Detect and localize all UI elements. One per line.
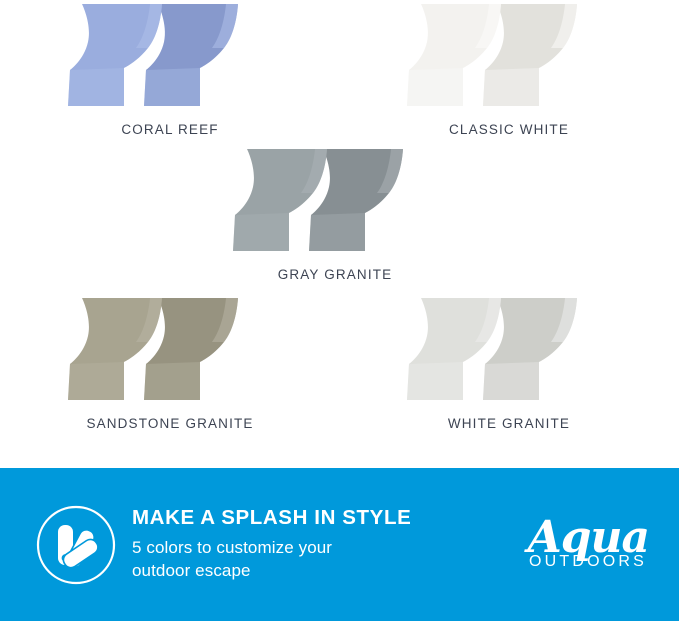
color-label: SANDSTONE GRANITE <box>24 416 316 431</box>
color-option-classic-white[interactable]: CLASSIC WHITE <box>363 2 655 137</box>
color-gallery: CORAL REEF CLASSIC WHITE <box>0 0 679 468</box>
chaise-lounger-pair-icon <box>363 296 655 408</box>
chaise-lounger-svg <box>24 2 316 114</box>
color-label: CLASSIC WHITE <box>363 122 655 137</box>
color-label: WHITE GRANITE <box>363 416 655 431</box>
promo-headline: MAKE A SPLASH IN STYLE <box>132 506 432 530</box>
color-swatch-fan-icon <box>34 503 118 587</box>
color-label: GRAY GRANITE <box>189 267 481 282</box>
color-option-gray-granite[interactable]: GRAY GRANITE <box>189 147 481 282</box>
chaise-lounger-pair-icon <box>24 2 316 114</box>
promo-subline-1: 5 colors to customize your <box>132 537 432 560</box>
promo-icon-wrap <box>28 503 124 587</box>
brand-logo-inner: Aqua OUTDOORS <box>528 518 649 570</box>
color-label: CORAL REEF <box>24 122 316 137</box>
chaise-lounger-svg <box>363 2 655 114</box>
promo-copy: MAKE A SPLASH IN STYLE 5 colors to custo… <box>132 506 432 582</box>
color-option-sandstone-granite[interactable]: SANDSTONE GRANITE <box>24 296 316 431</box>
promo-banner: MAKE A SPLASH IN STYLE 5 colors to custo… <box>0 468 679 621</box>
color-option-white-granite[interactable]: WHITE GRANITE <box>363 296 655 431</box>
chaise-lounger-svg <box>24 296 316 408</box>
chaise-lounger-svg <box>363 296 655 408</box>
color-option-coral-reef[interactable]: CORAL REEF <box>24 2 316 137</box>
brand-logo[interactable]: Aqua OUTDOORS <box>528 518 649 570</box>
promo-subline-2: outdoor escape <box>132 560 432 583</box>
chaise-lounger-svg <box>189 147 481 259</box>
brand-logo-word: OUTDOORS <box>528 553 649 571</box>
chaise-lounger-pair-icon <box>363 2 655 114</box>
chaise-lounger-pair-icon <box>189 147 481 259</box>
chaise-lounger-pair-icon <box>24 296 316 408</box>
